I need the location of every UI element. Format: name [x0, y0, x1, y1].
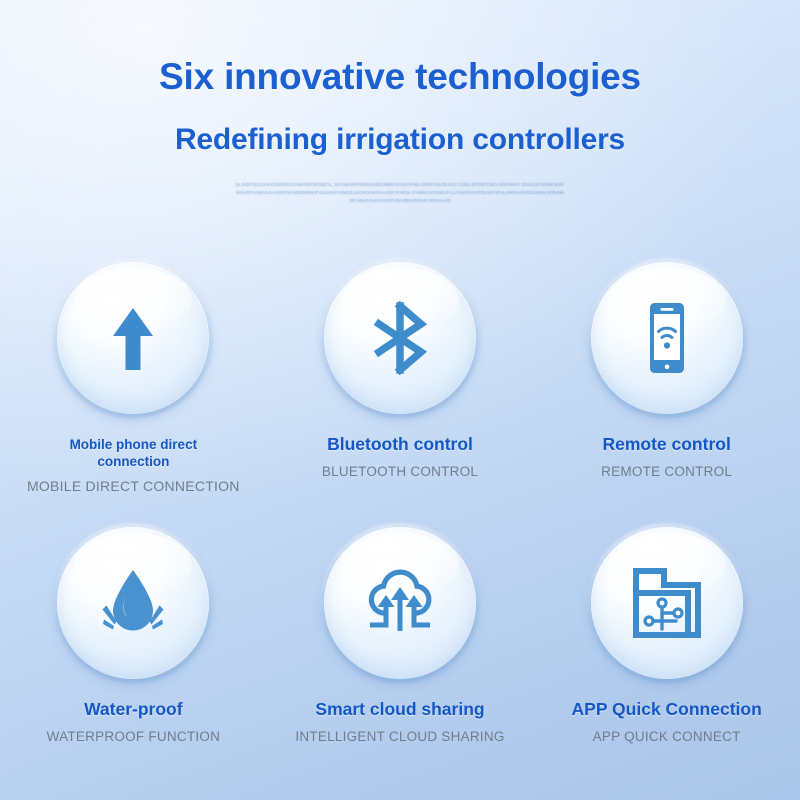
feature-subtitle: INTELLIGENT CLOUD SHARING [295, 729, 504, 745]
feature-title: Remote control [602, 433, 730, 455]
icon-circle [57, 262, 209, 414]
feature-subtitle: MOBILE DIRECT CONNECTION [27, 478, 240, 495]
feature-item-mobile-direct-connection: Mobile phone direct connection MOBILE DI… [0, 262, 267, 527]
decorative-filler-text: DLJKDFJGLDSJHGOKDFEGJHNKSDFDKSDFJL_SDVNK… [235, 181, 565, 205]
feature-title: APP Quick Connection [572, 698, 762, 720]
feature-title: Bluetooth control [327, 433, 473, 455]
feature-subtitle: REMOTE CONTROL [601, 464, 732, 480]
feature-item-waterproof: Water-proof WATERPROOF FUNCTION [0, 527, 267, 792]
feature-title: Smart cloud sharing [315, 698, 484, 720]
icon-circle [324, 527, 476, 679]
page-subtitle: Redefining irrigation controllers [0, 124, 800, 156]
icon-circle [324, 262, 476, 414]
feature-subtitle: APP QUICK CONNECT [593, 729, 741, 745]
feature-title: Water-proof [84, 698, 183, 720]
up-arrow-icon [95, 300, 171, 376]
heading-block: Six innovative technologies Redefining i… [0, 0, 800, 205]
cloud-upload-icon [356, 563, 444, 643]
icon-circle [591, 262, 743, 414]
phone-wifi-icon [627, 298, 707, 378]
feature-item-smart-cloud-sharing: Smart cloud sharing INTELLIGENT CLOUD SH… [267, 527, 534, 792]
feature-title: Mobile phone direct connection [58, 436, 208, 470]
feature-item-app-quick-connection: APP Quick Connection APP QUICK CONNECT [533, 527, 800, 792]
feature-subtitle: WATERPROOF FUNCTION [47, 729, 221, 745]
feature-item-bluetooth-control: Bluetooth control BLUETOOTH CONTROL [267, 262, 534, 527]
feature-poster: Six innovative technologies Redefining i… [0, 0, 800, 800]
water-drop-icon [90, 563, 176, 643]
icon-circle [591, 527, 743, 679]
page-title: Six innovative technologies [0, 58, 800, 97]
feature-subtitle: BLUETOOTH CONTROL [322, 464, 478, 480]
icon-circle [57, 527, 209, 679]
feature-item-remote-control: Remote control REMOTE CONTROL [533, 262, 800, 527]
folder-network-icon [626, 563, 708, 643]
feature-grid: Mobile phone direct connection MOBILE DI… [0, 262, 800, 792]
bluetooth-icon [360, 298, 440, 378]
